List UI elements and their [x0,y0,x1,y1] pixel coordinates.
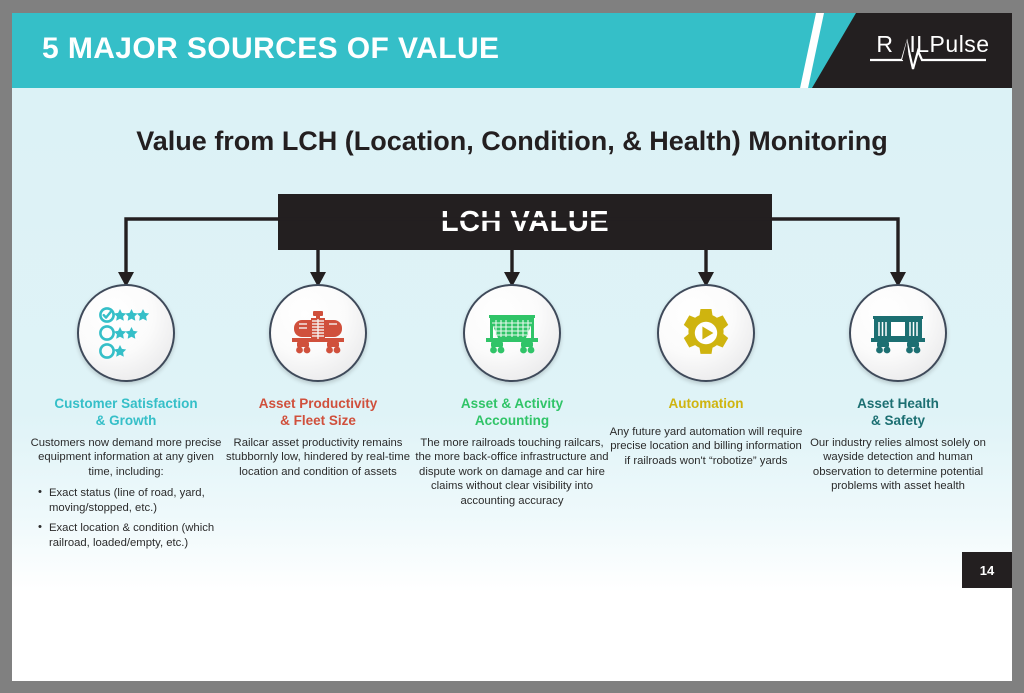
box-car-icon [867,310,929,356]
column-title-line2: Accounting [475,413,549,428]
column-title-line2: & Fleet Size [280,413,356,428]
icon-circle [657,284,755,382]
column-title-line1: Customer Satisfaction [54,396,197,411]
hopper-car-icon [481,310,543,356]
column-title-line1: Asset & Activity [461,396,563,411]
gear-play-icon [680,307,732,359]
column-title-line2: & Growth [96,413,157,428]
column-body-text: Our industry relies almost solely on way… [800,436,996,494]
column-bullet-list: Exact status (line of road, yard, moving… [28,486,224,551]
slide-subtitle: Value from LCH (Location, Condition, & H… [12,126,1012,157]
logo-wordmark-left: R [876,31,893,57]
logo-wordmark: RAILPulse [866,31,1000,58]
column-title-line2: & Safety [871,413,925,428]
lch-value-box: LCH VALUE [278,194,772,250]
column-title-line1: Automation [669,396,744,411]
icon-circle [849,284,947,382]
logo-wordmark-right: ILPulse [909,31,989,57]
railpulse-logo[interactable]: RAILPulse [866,29,1000,75]
page-number-badge: 14 [962,552,1012,588]
value-column-asset-health-safety: Asset Health & Safety Our industry relie… [800,284,996,494]
column-body-text: Any future yard automation will require … [608,425,804,468]
lch-value-label: LCH VALUE [441,206,609,239]
value-column-customer-satisfaction: Customer Satisfaction & Growth Customers… [28,284,224,557]
column-title: Asset Health & Safety [800,396,996,430]
column-title: Customer Satisfaction & Growth [28,396,224,430]
column-title-line1: Asset Productivity [259,396,378,411]
column-title: Asset & Activity Accounting [414,396,610,430]
column-title-line1: Asset Health [857,396,939,411]
icon-circle [77,284,175,382]
list-item: Exact location & condition (which railro… [38,521,220,550]
slide-body: Value from LCH (Location, Condition, & H… [12,88,1012,681]
value-column-asset-productivity: Asset Productivity & Fleet Size Railcar … [220,284,416,479]
value-column-asset-activity-accounting: Asset & Activity Accounting The more rai… [414,284,610,508]
column-title: Asset Productivity & Fleet Size [220,396,416,430]
icon-circle [463,284,561,382]
slide-header: 5 MAJOR SOURCES OF VALUE RAILPulse [12,13,1012,88]
column-body-text: Customers now demand more precise equipm… [28,436,224,479]
icon-circle [269,284,367,382]
tank-car-icon [287,310,349,356]
column-title: Automation [608,396,804,413]
page-title: 5 MAJOR SOURCES OF VALUE [42,32,499,66]
slide-frame: 5 MAJOR SOURCES OF VALUE RAILPulse Value… [12,13,1012,681]
column-body-text: The more railroads touching railcars, th… [414,436,610,508]
star-rating-icon [98,306,154,360]
column-body-text: Railcar asset productivity remains stubb… [220,436,416,479]
list-item: Exact status (line of road, yard, moving… [38,486,220,515]
value-column-automation: Automation Any future yard automation wi… [608,284,804,468]
